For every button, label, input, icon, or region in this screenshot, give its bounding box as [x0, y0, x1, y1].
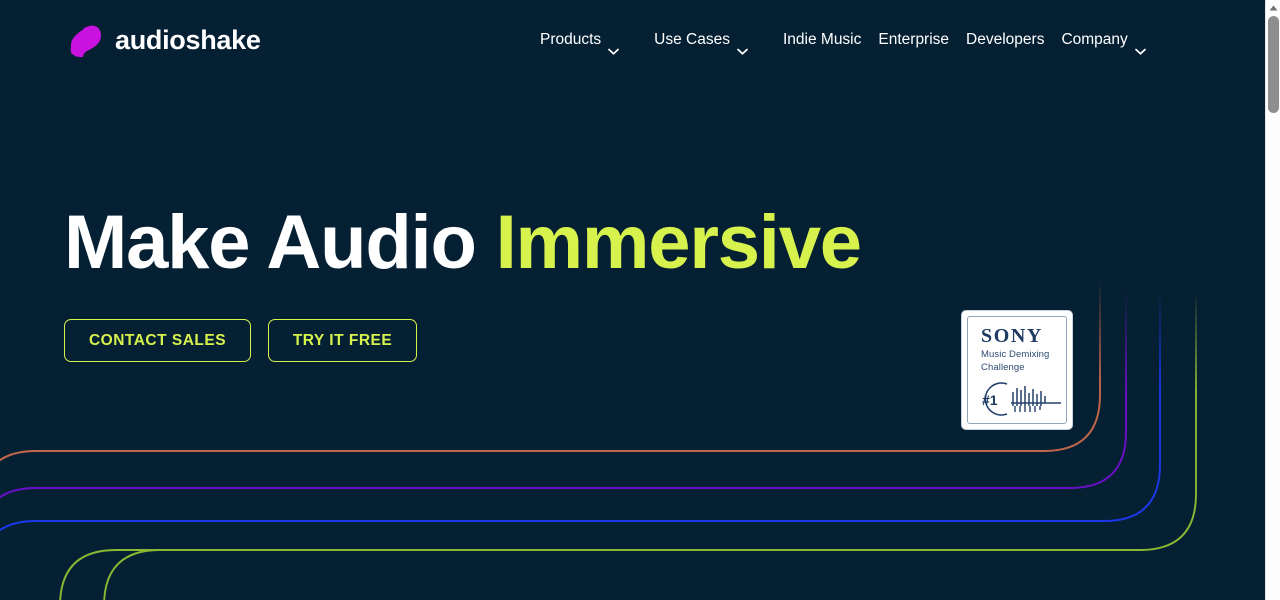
scroll-up-arrow-icon[interactable] — [1266, 3, 1280, 13]
page-canvas: audioshake Products Use Cases Indie Musi… — [0, 0, 1265, 600]
badge-subtitle-line2: Challenge — [981, 362, 1066, 375]
try-it-free-button[interactable]: TRY IT FREE — [268, 319, 417, 362]
nav-item-products[interactable]: Products — [540, 27, 637, 53]
cta-button-row: CONTACT SALES TRY IT FREE — [64, 319, 417, 362]
nav-label-indie-music: Indie Music — [783, 27, 861, 53]
chevron-down-icon — [737, 38, 748, 45]
badge-subtitle: Music Demixing Challenge — [981, 349, 1066, 374]
nav-item-developers[interactable]: Developers — [966, 27, 1044, 53]
nav-item-indie-music[interactable]: Indie Music — [783, 27, 861, 53]
badge-rank-and-waveform-icon: #1 — [977, 381, 1065, 417]
chevron-down-icon — [608, 38, 619, 45]
scrollbar-thumb[interactable] — [1268, 16, 1279, 113]
decorative-curves-svg — [0, 250, 1265, 600]
vertical-scrollbar[interactable] — [1265, 0, 1280, 600]
nav-label-developers: Developers — [966, 27, 1044, 53]
decorative-curves — [0, 250, 1265, 600]
badge-inner-frame: SONY Music Demixing Challenge #1 — [967, 316, 1067, 424]
site-header: audioshake Products Use Cases Indie Musi… — [0, 0, 1265, 80]
brand-logo[interactable]: audioshake — [64, 19, 261, 61]
nav-label-enterprise: Enterprise — [878, 27, 949, 53]
nav-item-use-cases[interactable]: Use Cases — [654, 27, 766, 53]
hero-title-accent: Immersive — [496, 200, 861, 285]
svg-text:#1: #1 — [982, 392, 998, 408]
nav-label-products: Products — [540, 27, 601, 53]
chevron-down-icon — [1135, 38, 1146, 45]
sony-music-demixing-challenge-badge: SONY Music Demixing Challenge #1 — [962, 311, 1072, 429]
badge-subtitle-line1: Music Demixing — [981, 349, 1066, 362]
contact-sales-button[interactable]: CONTACT SALES — [64, 319, 251, 362]
badge-sony-wordmark: SONY — [981, 326, 1066, 346]
hero-title-plain: Make Audio — [64, 200, 496, 285]
brand-wordmark: audioshake — [115, 27, 261, 54]
deco-line-4-left — [104, 550, 160, 600]
main-navigation: Products Use Cases Indie Music Enterpris… — [540, 27, 1146, 53]
nav-item-company[interactable]: Company — [1061, 27, 1145, 53]
nav-label-use-cases: Use Cases — [654, 27, 730, 53]
audioshake-logo-icon — [64, 19, 106, 61]
nav-label-company: Company — [1061, 27, 1127, 53]
page-title: Make Audio Immersive — [64, 197, 861, 289]
nav-item-enterprise[interactable]: Enterprise — [878, 27, 949, 53]
